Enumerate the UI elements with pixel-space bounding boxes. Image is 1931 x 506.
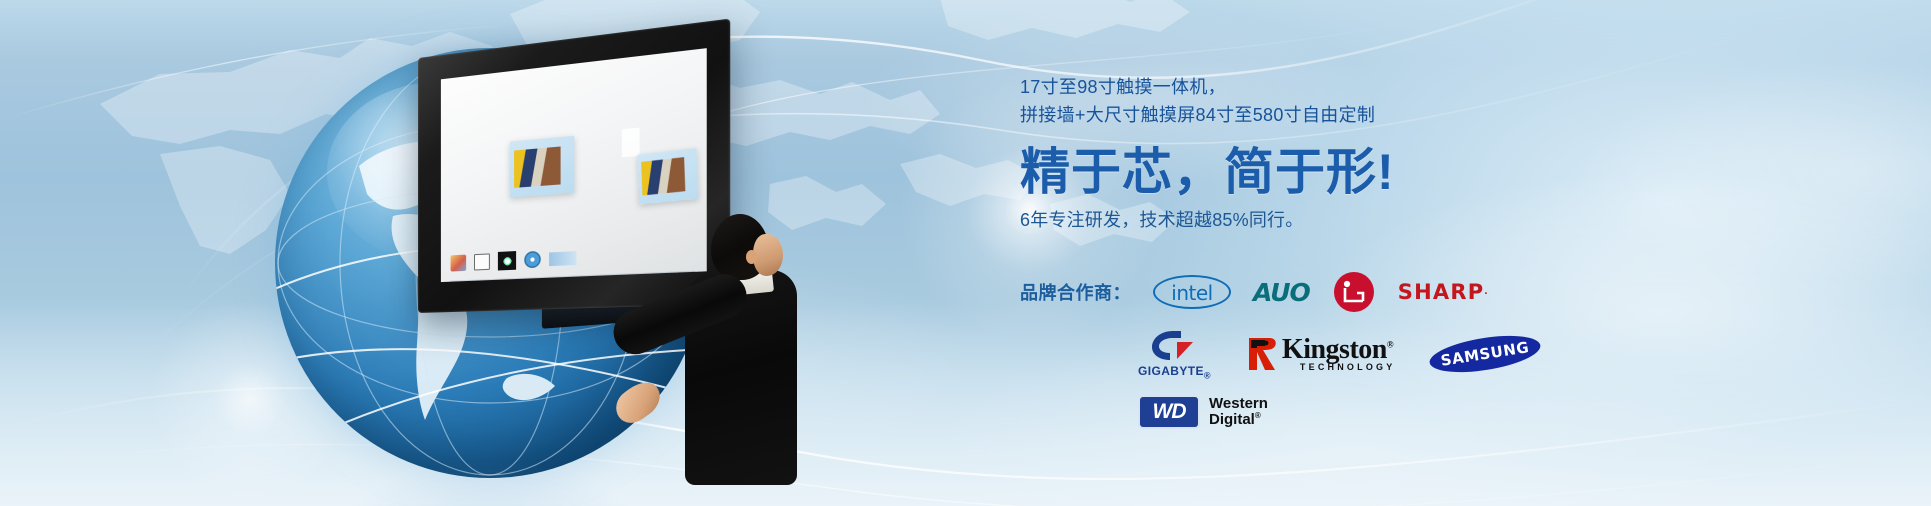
brand-partners-row-1: 品牌合作商： intel AUO SHARP.	[1020, 270, 1720, 314]
app-icon-gallery	[451, 255, 467, 272]
promo-banner: 17寸至98寸触摸一体机， 拼接墙+大尺寸触摸屏84寸至580寸自由定制 精于芯…	[0, 0, 1931, 506]
app-icon-media	[498, 251, 516, 270]
intel-logo-icon: intel	[1153, 275, 1231, 309]
gigabyte-trademark: ®	[1204, 371, 1211, 381]
person-hand	[609, 375, 667, 429]
banner-subheading: 17寸至98寸触摸一体机， 拼接墙+大尺寸触摸屏84寸至580寸自由定制	[1020, 74, 1720, 130]
banner-copy: 17寸至98寸触摸一体机， 拼接墙+大尺寸触摸屏84寸至580寸自由定制 精于芯…	[1020, 74, 1720, 429]
gigabyte-logo-icon: GIGABYTE®	[1138, 328, 1211, 380]
subheading-line-2: 拼接墙+大尺寸触摸屏84寸至580寸自由定制	[1020, 102, 1720, 130]
kingston-logo-icon: Kingston® TECHNOLOGY	[1245, 334, 1396, 374]
samsung-logo-icon: SAMSUNG	[1428, 330, 1544, 379]
gigabyte-wordmark: GIGABYTE	[1138, 364, 1204, 378]
app-icon-window	[474, 253, 490, 270]
app-icon-tile	[549, 251, 576, 266]
sharp-trademark: .	[1484, 287, 1489, 297]
brand-partners-row-2: GIGABYTE® Kingston® TECHNOLOGY	[1138, 328, 1720, 380]
person-face	[753, 234, 783, 276]
sharp-logo-icon: SHARP.	[1398, 280, 1489, 304]
wd-line-2: Digital®	[1209, 412, 1268, 427]
person-ear	[746, 250, 757, 264]
touchscreen-scene	[418, 58, 838, 478]
kingston-wordmark: Kingston®	[1282, 337, 1396, 363]
kingston-trademark: ®	[1387, 340, 1393, 350]
man-touching-screen	[603, 138, 798, 483]
kingston-subtext: TECHNOLOGY	[1300, 363, 1396, 371]
banner-headline: 精于芯，简于形!	[1020, 146, 1720, 199]
sharp-logo-text: SHARP	[1398, 280, 1485, 304]
auo-logo-text: AUO	[1253, 278, 1310, 307]
photo-thumbnail	[510, 136, 574, 198]
wd-trademark: ®	[1255, 411, 1261, 420]
app-icon-browser	[524, 251, 540, 268]
western-digital-logo-icon: WD Western Digital®	[1138, 395, 1268, 429]
banner-tagline: 6年专注研发，技术超越85%同行。	[1020, 206, 1720, 232]
samsung-wordmark: SAMSUNG	[1440, 339, 1531, 371]
brand-partners: 品牌合作商： intel AUO SHARP.	[1020, 270, 1720, 428]
wd-line-1: Western	[1209, 396, 1268, 411]
brand-partners-row-3: WD Western Digital®	[1138, 395, 1720, 429]
auo-logo-icon: AUO	[1253, 278, 1310, 307]
lg-logo-icon	[1332, 270, 1376, 314]
wd-mark: WD	[1138, 395, 1200, 429]
subheading-line-1: 17寸至98寸触摸一体机，	[1020, 77, 1226, 97]
wd-wordmark: Western Digital®	[1209, 396, 1268, 427]
intel-logo-text: intel	[1171, 281, 1212, 305]
gigabyte-logo-text: GIGABYTE®	[1138, 364, 1211, 380]
brand-partners-label: 品牌合作商：	[1020, 279, 1131, 305]
